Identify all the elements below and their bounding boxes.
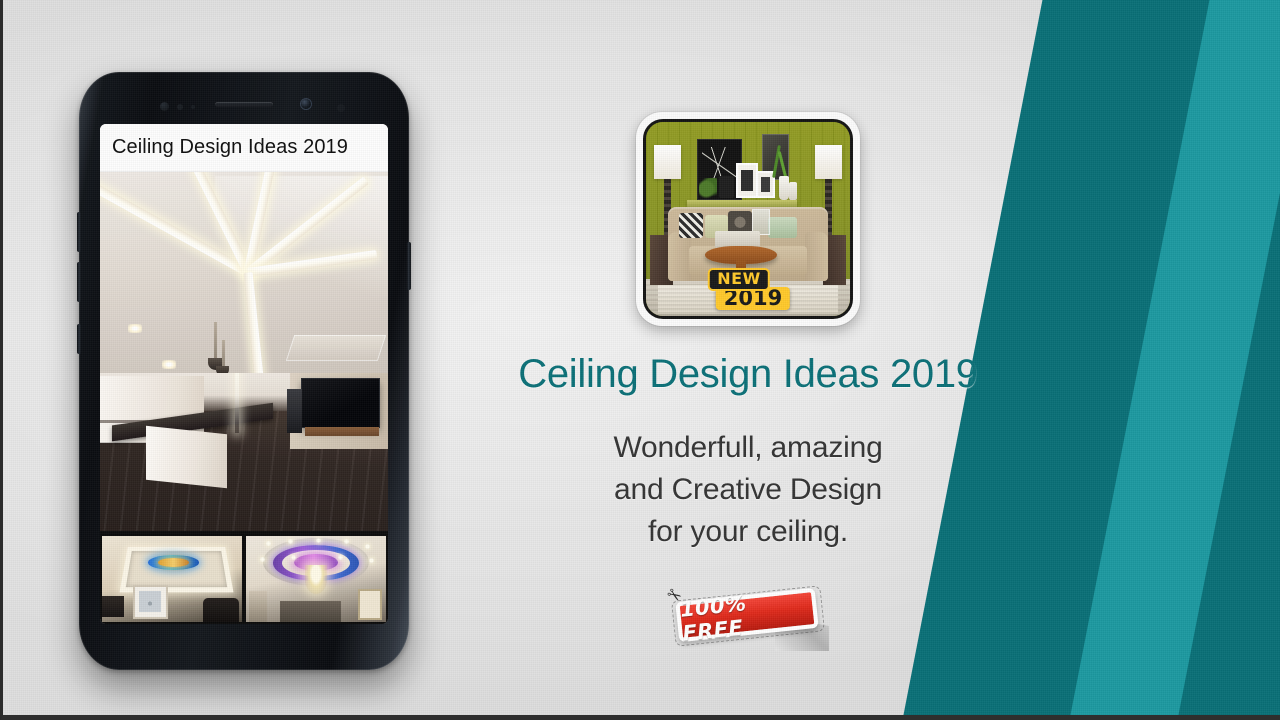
- framed-picture: [358, 589, 382, 621]
- floating-shelf: [687, 200, 797, 208]
- downlight-icon: [260, 557, 265, 562]
- tower-speaker: [287, 389, 301, 433]
- proximity-sensor-icon: [160, 102, 169, 111]
- downlight-icon: [128, 324, 142, 333]
- amber-led-oval: [158, 558, 189, 567]
- thumbnail-strip: [100, 531, 388, 624]
- downlight-icon: [316, 538, 321, 543]
- television: [302, 379, 380, 426]
- app-titlebar: Ceiling Design Ideas 2019: [100, 124, 388, 172]
- pendant-cord: [214, 322, 217, 362]
- promo-content: NEW 2019 Ceiling Design Ideas 2019 Wonde…: [443, 0, 1053, 720]
- phone-top-bezel: [105, 92, 383, 116]
- pendant-shade: [216, 366, 229, 373]
- led-strip: [244, 272, 264, 373]
- promo-banner: Ceiling Design Ideas 2019: [0, 0, 1280, 720]
- downlight-icon: [162, 360, 176, 369]
- wall-panel: [280, 601, 342, 622]
- front-camera-icon: [301, 99, 311, 109]
- iris-sensor-icon: [191, 105, 195, 109]
- phone-screen[interactable]: Ceiling Design Ideas 2019: [100, 124, 388, 624]
- page-title: Ceiling Design Ideas 2019: [518, 352, 977, 397]
- tagline-line-1: Wonderfull, amazing: [613, 427, 882, 469]
- sofa-arm: [805, 232, 827, 281]
- doorway: [249, 591, 267, 622]
- app-screenshot: Ceiling Design Ideas 2019: [100, 124, 388, 624]
- white-vase: [779, 176, 789, 199]
- new-badge: NEW 2019: [711, 268, 785, 310]
- power-button[interactable]: [407, 242, 411, 290]
- volume-down-button[interactable]: [77, 262, 81, 302]
- wall-art: [133, 585, 168, 618]
- downlight-icon: [365, 544, 370, 549]
- lamp-shade: [815, 145, 842, 179]
- tagline: Wonderfull, amazing and Creative Design …: [613, 427, 882, 553]
- wood-platform: [305, 427, 380, 436]
- dark-sofa: [203, 598, 239, 622]
- new-badge-label: NEW: [708, 268, 769, 291]
- cabinet: [102, 596, 124, 617]
- sofa-arm: [668, 232, 690, 281]
- ceiling-panel: [286, 335, 386, 361]
- throw-pillow: [679, 213, 703, 238]
- hero-image[interactable]: [100, 172, 388, 531]
- potted-plant: [699, 178, 717, 199]
- ampersand-ornament: [719, 176, 733, 197]
- speaker-grille-icon: [215, 102, 273, 107]
- downlight-icon: [288, 539, 293, 544]
- light-sensor-icon: [177, 104, 183, 110]
- kitchen-photo: [100, 373, 388, 531]
- lamp-shade: [654, 145, 681, 179]
- photo-frame: [736, 163, 758, 198]
- tagline-line-3: for your ceiling.: [613, 511, 882, 553]
- ceiling-photo: [100, 172, 388, 373]
- app-title: Ceiling Design Ideas 2019: [112, 136, 348, 159]
- downlight-icon: [369, 558, 374, 563]
- throw-pillow: [768, 217, 797, 238]
- assistant-button[interactable]: [77, 324, 81, 354]
- ceiling-thumbnail-circular-chandelier[interactable]: [244, 534, 388, 624]
- volume-up-button[interactable]: [77, 212, 81, 252]
- ceiling-thumbnail-square-led[interactable]: [100, 534, 244, 624]
- tagline-line-2: and Creative Design: [613, 469, 882, 511]
- kitchen-island-body: [146, 426, 227, 488]
- downlight-icon: [266, 541, 271, 546]
- corridor-light: [235, 373, 239, 433]
- app-icon-artwork: NEW 2019: [643, 119, 853, 319]
- downlight-icon: [291, 555, 296, 560]
- led-indicator-icon: [337, 104, 345, 112]
- phone-mockup: Ceiling Design Ideas 2019: [79, 72, 409, 670]
- chandelier: [305, 565, 327, 594]
- app-icon[interactable]: NEW 2019: [636, 112, 860, 326]
- free-badge: 100% FREE ✂: [663, 587, 833, 651]
- white-vase: [789, 182, 797, 199]
